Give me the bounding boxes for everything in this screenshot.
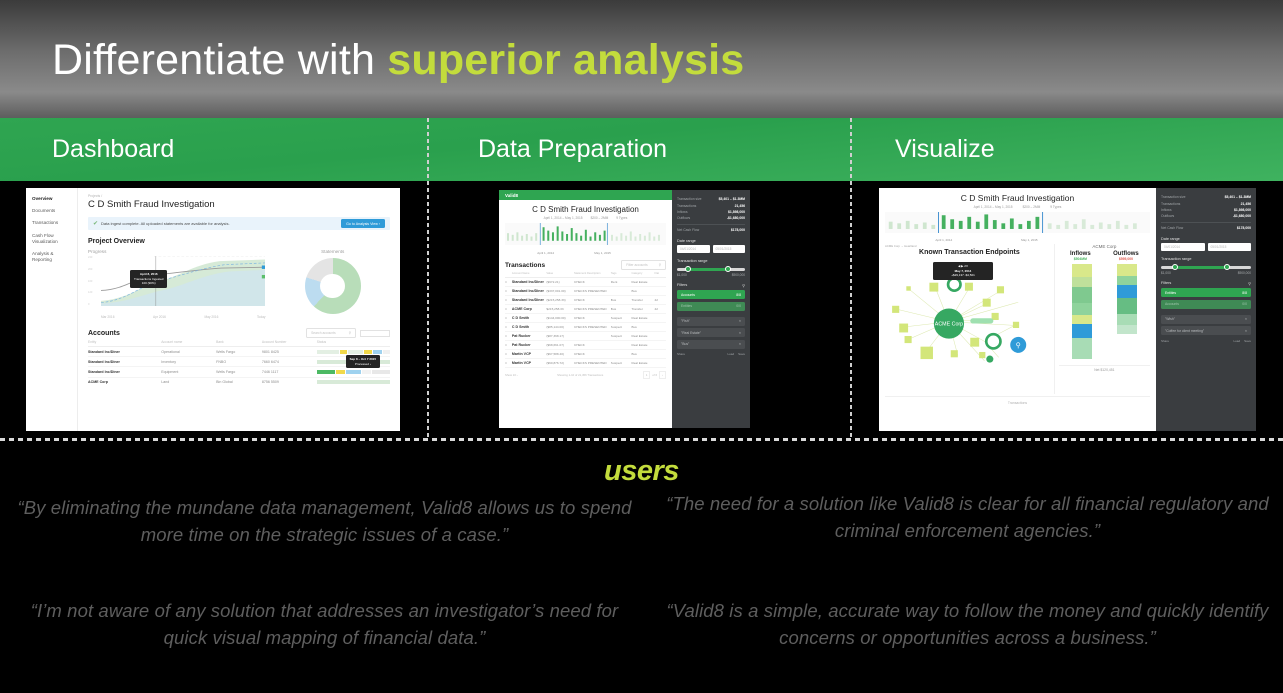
visualize-rail: Transaction size$5,401 – $1.3MMTransacti… bbox=[1156, 188, 1256, 431]
row-bank: Bin Global bbox=[216, 380, 262, 384]
footer-of: of 6 bbox=[652, 373, 657, 377]
check-circle-icon: ✔ bbox=[93, 220, 98, 227]
footer-next-button[interactable]: › bbox=[659, 371, 666, 379]
flows-entity: ACME Corp bbox=[1059, 244, 1150, 249]
close-icon[interactable]: × bbox=[739, 331, 741, 335]
row-account-name: Martin VCP bbox=[512, 361, 547, 365]
x-tick-2: May 2016 bbox=[204, 315, 218, 319]
row-number: 7446 1117 bbox=[262, 370, 317, 374]
close-icon[interactable]: × bbox=[1245, 329, 1247, 333]
filters-label: Filters bbox=[677, 283, 742, 287]
transaction-range-label: Transaction range bbox=[1161, 257, 1251, 261]
row-account: Operational bbox=[161, 350, 216, 354]
progress-area-chart bbox=[101, 256, 265, 306]
x-tick-3: Today bbox=[257, 315, 266, 319]
timeline-histogram[interactable] bbox=[885, 212, 1150, 233]
footer-count: Showing 1-10 of 21,456 Transactions bbox=[518, 373, 643, 377]
go-to-analysis-button[interactable]: Go to Analysis View › bbox=[341, 219, 385, 228]
date-range-inputs[interactable]: 04/01/2014 05/01/2015 bbox=[1161, 243, 1251, 251]
filter-accounts-count: 8/8 bbox=[736, 293, 741, 297]
stat-label: Transactions bbox=[677, 204, 696, 208]
filter-entities-label: Entities bbox=[1165, 291, 1176, 295]
search-icon: ⚲ bbox=[349, 331, 351, 335]
user-quote-2: “The need for a solution like Valid8 is … bbox=[660, 491, 1275, 545]
stat-value: -$1,680,000 bbox=[1233, 214, 1251, 218]
screenshot-dashboard[interactable]: Overview Documents Transactions Cash Flo… bbox=[26, 188, 400, 431]
row-number: 7660 6474 bbox=[262, 360, 317, 364]
row-description: CHECKS PRESENTED bbox=[574, 325, 611, 329]
x-tick-0: Mar 2016 bbox=[101, 315, 114, 319]
range-max: $900,000 bbox=[732, 273, 745, 277]
table-row[interactable]: □Pat Rucker($87,368.17)SuspectReal Estat… bbox=[505, 332, 666, 341]
row-status-bar bbox=[317, 380, 390, 384]
col-bank: Bank bbox=[216, 340, 262, 344]
date-range-inputs[interactable]: 04/01/2014 05/01/2015 bbox=[677, 245, 745, 253]
meta-daterange: April 1, 2014 – May 1, 2015 bbox=[544, 216, 583, 220]
filter-accounts-count: 0/0 bbox=[1242, 302, 1247, 306]
section-title-project-overview: Project Overview bbox=[88, 238, 390, 245]
timeline-start-label: April 1, 2014 bbox=[537, 251, 554, 255]
row-category: Real Estate bbox=[632, 343, 655, 347]
sidebar-item-transactions[interactable]: Transactions bbox=[32, 220, 71, 226]
row-category: Transfer bbox=[632, 307, 655, 311]
row-bank: Wells Fargo bbox=[216, 350, 262, 354]
statements-label: Statements bbox=[275, 249, 390, 254]
divider-vertical-2 bbox=[850, 118, 852, 440]
filter-entities-pill[interactable]: Entities 8/8 bbox=[1161, 288, 1251, 297]
rail-stats: Transaction size$5,401 – $1.3MMTransacti… bbox=[1161, 194, 1251, 220]
timeline-end-label: May 1, 2015 bbox=[594, 251, 611, 255]
row-bank: Wells Fargo bbox=[216, 370, 262, 374]
filters-label: Filters bbox=[1161, 281, 1248, 285]
row-value: ($972.21) bbox=[546, 280, 574, 284]
search-icon[interactable]: ⚲ bbox=[742, 283, 745, 288]
stat-value: $1,898,000 bbox=[1234, 208, 1251, 212]
band-label-data-preparation[interactable]: Data Preparation bbox=[478, 135, 667, 164]
stat-label: Transaction size bbox=[677, 197, 702, 201]
row-account: Inventory bbox=[161, 360, 216, 364]
row-account-name: ACME Corp bbox=[512, 307, 547, 311]
row-checkbox[interactable]: □ bbox=[505, 298, 512, 302]
page-title-accent: superior analysis bbox=[387, 36, 744, 84]
share-link[interactable]: Share bbox=[677, 352, 727, 356]
date-range-label: Date range bbox=[1161, 237, 1251, 241]
filter-accounts-label: Accounts bbox=[1165, 302, 1179, 306]
row-entity: Standard Inc/Diner bbox=[88, 370, 161, 374]
y-tick-4: 0 bbox=[88, 303, 100, 306]
row-account-name: C D Smith bbox=[512, 325, 547, 329]
tooltip-line2: 100 (90%) bbox=[134, 281, 163, 286]
filter-tag-label: "Fish" bbox=[681, 319, 690, 323]
save-link[interactable]: Save bbox=[1244, 339, 1251, 343]
row-description: CHECKS PRESENTED bbox=[574, 289, 611, 293]
filter-tag[interactable]: "Wish" × bbox=[1161, 315, 1251, 324]
row-tag: Suspect bbox=[611, 334, 632, 338]
row-value: ($60,876.72) bbox=[546, 361, 574, 365]
sidebar-item-cash-flow[interactable]: Cash Flow Visualization bbox=[32, 233, 71, 245]
alert-text: Data ingest complete. All uploaded state… bbox=[101, 221, 341, 226]
breadcrumb: Projects / bbox=[88, 194, 390, 198]
screenshot-data-preparation[interactable]: Valid8 C D Smith Fraud Investigation Apr… bbox=[499, 190, 750, 428]
row-entity: Standard Inc/Diner bbox=[88, 350, 161, 354]
project-title: C D Smith Fraud Investigation bbox=[885, 193, 1150, 203]
net-value: $178,000 bbox=[731, 228, 745, 232]
page-title-plain: Differentiate with bbox=[52, 36, 387, 84]
project-title: C D Smith Fraud Investigation bbox=[88, 199, 390, 210]
row-status-bar bbox=[317, 350, 390, 354]
row-tag: Suspect bbox=[611, 325, 632, 329]
screenshot-visualize[interactable]: C D Smith Fraud Investigation April 1, 2… bbox=[879, 188, 1256, 431]
row-tag: Rent bbox=[611, 280, 632, 284]
filter-tag[interactable]: "Fish" × bbox=[677, 317, 745, 326]
meta-amount: $200 – 2MM bbox=[591, 216, 609, 220]
status-tooltip-line2: Processed › bbox=[350, 362, 376, 367]
close-icon[interactable]: × bbox=[1245, 317, 1247, 321]
load-link[interactable]: Load bbox=[1233, 339, 1240, 343]
range-values: $1,000 $900,000 bbox=[677, 273, 745, 277]
sidebar-item-overview[interactable]: Overview bbox=[32, 196, 71, 202]
row-checkbox[interactable]: □ bbox=[505, 361, 512, 365]
date-range-label: Date range bbox=[677, 239, 745, 243]
filter-accounts-pill[interactable]: Accounts 8/8 bbox=[677, 290, 745, 299]
date-to-input[interactable]: 05/01/2015 bbox=[713, 245, 746, 253]
scrub-amounts: +$29,137 -$4,501 bbox=[937, 273, 989, 278]
page-title: Differentiate with superior analysis bbox=[52, 36, 744, 85]
transaction-range-label: Transaction range bbox=[677, 259, 745, 263]
rail-stat-row: Outflows-$1,680,000 bbox=[1161, 213, 1251, 219]
rail-net-cash-flow: Net Cash Flow $178,000 bbox=[677, 224, 745, 233]
status-tooltip: Sep 8 – Oct 7 2015 Processed › bbox=[346, 355, 380, 368]
search-icon: ⚲ bbox=[659, 263, 661, 267]
range-max: $900,000 bbox=[1238, 271, 1251, 275]
row-tag: Bus bbox=[611, 307, 632, 311]
row-value: ($337,001.00) bbox=[546, 289, 574, 293]
filter-placeholder: Filter accounts bbox=[626, 263, 647, 267]
band-label-dashboard[interactable]: Dashboard bbox=[52, 135, 174, 164]
stat-label: Transaction size bbox=[1161, 195, 1186, 199]
divider-vertical-1 bbox=[427, 118, 429, 440]
row-checkbox[interactable]: □ bbox=[505, 325, 512, 329]
row-tag: Suspect bbox=[611, 316, 632, 320]
row-entity: ACME Corp bbox=[88, 380, 161, 384]
range-min: $1,000 bbox=[677, 273, 687, 277]
band-label-visualize[interactable]: Visualize bbox=[895, 135, 995, 164]
y-tick-0: 240 bbox=[88, 256, 100, 259]
slider-knob-max[interactable] bbox=[1224, 264, 1230, 270]
row-value: ($68,661.07) bbox=[546, 343, 574, 347]
user-quote-3: “I’m not aware of any solution that addr… bbox=[12, 598, 637, 652]
table-row[interactable]: □C D Smith($144,000.00)CHECKSuspectReal … bbox=[505, 314, 666, 323]
accounts-table-header: Entity Account name Bank Account Number … bbox=[88, 338, 390, 347]
y-tick-2: 160 bbox=[88, 280, 100, 283]
timeline-histogram[interactable] bbox=[505, 223, 666, 245]
transaction-range-slider[interactable] bbox=[677, 268, 745, 271]
net-footer: Net $120,451 bbox=[1059, 365, 1150, 372]
range-values: $1,000 $900,000 bbox=[1161, 271, 1251, 275]
date-from-input[interactable]: 04/01/2014 bbox=[1161, 243, 1205, 251]
table-row[interactable]: □Standard Inc/Diner($215,258.33)CHECKBus… bbox=[505, 296, 666, 305]
graph-title: Known Transaction Endpoints bbox=[885, 249, 1054, 256]
users-heading: users bbox=[0, 455, 1283, 488]
stat-label: Inflows bbox=[677, 210, 688, 214]
filter-accounts-label: Accounts bbox=[681, 293, 695, 297]
close-icon[interactable]: × bbox=[739, 342, 741, 346]
col-status: Status bbox=[317, 340, 390, 344]
filter-tag-label: "Bus" bbox=[681, 342, 689, 346]
accounts-extra-input[interactable] bbox=[360, 330, 390, 337]
timeline-start-label: April 1, 2014 bbox=[935, 238, 952, 242]
row-value: $215,258.33 bbox=[546, 307, 574, 311]
project-meta: April 1, 2014 – May 1, 2015 $200 – 2MM 9… bbox=[505, 216, 666, 220]
stat-value: -$1,680,000 bbox=[727, 216, 745, 220]
meta-daterange: April 1, 2014 – May 1, 2015 bbox=[974, 205, 1013, 209]
transaction-range-slider[interactable] bbox=[1161, 266, 1251, 269]
col-flat: Flat bbox=[655, 272, 667, 275]
filter-tag-label: "Real Estate" bbox=[681, 331, 701, 335]
row-account-name: Standard Inc/Diner bbox=[512, 298, 547, 302]
row-checkbox[interactable]: □ bbox=[505, 289, 512, 293]
table-row[interactable]: □ACME Corp$215,258.33CHECKS PRESENTEDBus… bbox=[505, 305, 666, 314]
table-row[interactable]: Standard Inc/Diner Equipment Wells Fargo… bbox=[88, 367, 390, 377]
table-row[interactable]: □Pat Rucker($68,661.07)CHECKReal Estate bbox=[505, 341, 666, 350]
row-entity: Standard Inc/Diner bbox=[88, 360, 161, 364]
col-account-name: Account Name bbox=[512, 272, 547, 275]
row-account: Equipment bbox=[161, 370, 216, 374]
row-description: CHECK bbox=[574, 280, 611, 284]
stat-value: $1,898,000 bbox=[728, 210, 745, 214]
row-checkbox[interactable]: □ bbox=[505, 316, 512, 320]
row-value: ($67,588.40) bbox=[546, 352, 574, 356]
title-bar: Differentiate with superior analysis bbox=[0, 0, 1283, 118]
col-tags: Tags bbox=[611, 272, 632, 275]
stat-label: Inflows bbox=[1161, 208, 1172, 212]
row-account: Land bbox=[161, 380, 216, 384]
statements-donut-chart bbox=[305, 258, 361, 314]
table-row[interactable]: □Martin VCP($60,876.72)CHECKS PRESENTEDS… bbox=[505, 359, 666, 368]
row-bank: FNBO bbox=[216, 360, 262, 364]
col-account-name: Account name bbox=[161, 340, 216, 344]
row-category: Real Estate bbox=[632, 316, 655, 320]
stat-label: Outflows bbox=[677, 216, 690, 220]
row-flat: 42 bbox=[655, 298, 667, 302]
section-band: Dashboard Data Preparation Visualize bbox=[0, 118, 1283, 181]
dashboard-body: Projects / C D Smith Fraud Investigation… bbox=[78, 188, 400, 431]
filter-entities-count: 8/8 bbox=[1242, 291, 1247, 295]
row-value: ($144,000.00) bbox=[546, 316, 574, 320]
inflows-value: $504MM bbox=[1070, 257, 1091, 261]
rail-net-cash-flow: Net Cash Flow $178,000 bbox=[1161, 222, 1251, 231]
rail-stats: Transaction size$5,401 – $1.3MMTransacti… bbox=[677, 196, 745, 222]
project-title: C D Smith Fraud Investigation bbox=[505, 205, 666, 214]
table-row[interactable]: Standard Inc/Diner Operational Wells Far… bbox=[88, 347, 390, 357]
filter-entities-pill[interactable]: Entities 0/0 bbox=[677, 302, 745, 311]
row-description: CHECK bbox=[574, 298, 611, 302]
row-account-name: Standard Inc/Diner bbox=[512, 280, 547, 284]
timeline-end-label: May 1, 2015 bbox=[1021, 238, 1038, 242]
dashboard-sidebar: Overview Documents Transactions Cash Flo… bbox=[26, 188, 78, 431]
search-icon[interactable]: ⚲ bbox=[1248, 281, 1251, 286]
divider-horizontal bbox=[0, 438, 1283, 441]
scrub-tooltip: ◀ ▶ 2X May 7, 2014 +$29,137 -$4,501 bbox=[933, 262, 993, 280]
inflow-stack[interactable] bbox=[1072, 264, 1092, 359]
footer-show[interactable]: Show 10 › bbox=[505, 373, 518, 377]
stat-value: 21,456 bbox=[1241, 202, 1251, 206]
filter-tag[interactable]: "Bus" × bbox=[677, 340, 745, 349]
filter-tag[interactable]: "Real Estate" × bbox=[677, 328, 745, 337]
graph-breadcrumb: ACME Corp → Heartland bbox=[885, 244, 1054, 248]
row-account-name: Pat Rucker bbox=[512, 334, 547, 338]
outflow-stack[interactable] bbox=[1117, 264, 1137, 359]
row-account-name: Martin VCP bbox=[512, 352, 547, 356]
row-checkbox[interactable]: □ bbox=[505, 280, 512, 284]
net-label: Net Cash Flow bbox=[1161, 226, 1183, 230]
ingest-alert: ✔ Data ingest complete. All uploaded sta… bbox=[88, 217, 390, 230]
range-min: $1,000 bbox=[1161, 271, 1171, 275]
progress-chart: 240 200 160 120 0 bbox=[88, 256, 265, 314]
table-row[interactable]: Standard Inc/Diner Inventory FNBO 7660 6… bbox=[88, 357, 390, 367]
table-row[interactable]: ACME Corp Land Bin Global 8756 5509 bbox=[88, 378, 390, 387]
row-account-name: C D Smith bbox=[512, 316, 547, 320]
stat-value: $5,401 – $1.3MM bbox=[1225, 195, 1251, 199]
row-checkbox[interactable]: □ bbox=[505, 343, 512, 347]
transactions-table-header: Account Name Value Statement Description… bbox=[505, 270, 666, 278]
footer-page[interactable]: 1 bbox=[643, 371, 651, 379]
load-link[interactable]: Load bbox=[727, 352, 734, 356]
row-account-name: Standard Inc/Diner bbox=[512, 289, 547, 293]
svg-text:⚲: ⚲ bbox=[1016, 342, 1021, 350]
table-row[interactable]: □Standard Inc/Diner($972.21)CHECKRentRea… bbox=[505, 278, 666, 287]
user-quote-4: “Valid8 is a simple, accurate way to fol… bbox=[660, 598, 1275, 652]
save-link[interactable]: Save bbox=[738, 352, 745, 356]
stat-label: Outflows bbox=[1161, 214, 1174, 218]
row-tag: Suspect bbox=[611, 361, 632, 365]
stat-label: Transactions bbox=[1161, 202, 1180, 206]
accounts-search-placeholder: Search accounts bbox=[311, 331, 336, 335]
sidebar-item-analysis[interactable]: Analysis & Reporting bbox=[32, 251, 71, 263]
y-tick-1: 200 bbox=[88, 268, 100, 271]
filter-tag[interactable]: "Coffee for client meeting" × bbox=[1161, 326, 1251, 335]
filter-entities-count: 0/0 bbox=[736, 304, 741, 308]
y-tick-3: 120 bbox=[88, 291, 100, 294]
row-checkbox[interactable]: □ bbox=[505, 307, 512, 311]
row-category: Bus bbox=[632, 352, 655, 356]
sidebar-item-documents[interactable]: Documents bbox=[32, 208, 71, 214]
row-category: Real Estate bbox=[632, 361, 655, 365]
row-category: Bus bbox=[632, 289, 655, 293]
stat-value: 21,456 bbox=[735, 204, 745, 208]
row-account-name: Pat Rucker bbox=[512, 343, 547, 347]
slider-knob-min[interactable] bbox=[1172, 264, 1178, 270]
meta-amount: $200 – 2MM bbox=[1023, 205, 1041, 209]
filter-tag-label: "Wish" bbox=[1165, 317, 1175, 321]
meta-types: 9 Types bbox=[616, 216, 627, 220]
transactions-rows: □Standard Inc/Diner($972.21)CHECKRentRea… bbox=[505, 278, 666, 368]
net-label: Net Cash Flow bbox=[677, 228, 699, 232]
project-meta: April 1, 2014 – May 1, 2015 $200 – 2MM 9… bbox=[885, 205, 1150, 209]
accounts-title: Accounts bbox=[88, 330, 306, 337]
row-value: ($87,368.17) bbox=[546, 334, 574, 338]
row-description: CHECKS PRESENTED bbox=[574, 307, 611, 311]
svg-text:ACME Corp: ACME Corp bbox=[935, 321, 963, 327]
row-checkbox[interactable]: □ bbox=[505, 334, 512, 338]
date-to-input[interactable]: 05/01/2015 bbox=[1208, 243, 1252, 251]
row-category: Real Estate bbox=[632, 280, 655, 284]
data-prep-main: C D Smith Fraud Investigation April 1, 2… bbox=[499, 200, 672, 428]
table-row[interactable]: □Standard Inc/Diner($337,001.00)CHECKS P… bbox=[505, 287, 666, 296]
row-flat: 42 bbox=[655, 307, 667, 311]
data-prep-rail: Transaction size$5,401 – $1.3MMTransacti… bbox=[672, 190, 750, 428]
row-status-bar bbox=[317, 370, 390, 374]
col-account-number: Account Number bbox=[262, 340, 317, 344]
accounts-search-input[interactable]: Search accounts ⚲ bbox=[306, 328, 356, 338]
row-tag: Bus bbox=[611, 298, 632, 302]
status-tooltip-line1: Sep 8 – Oct 7 2015 bbox=[350, 357, 376, 362]
transactions-title: Transactions bbox=[505, 262, 621, 269]
row-description: CHECK bbox=[574, 343, 611, 347]
net-value: $178,000 bbox=[1237, 226, 1251, 230]
col-value: Value bbox=[546, 272, 574, 275]
filter-accounts-input[interactable]: Filter accounts ⚲ bbox=[621, 260, 666, 270]
row-category: Real Estate bbox=[632, 334, 655, 338]
meta-types: 9 Types bbox=[1050, 205, 1061, 209]
progress-x-axis: Mar 2016 Apr 2016 May 2016 Today bbox=[88, 315, 265, 319]
row-checkbox[interactable]: □ bbox=[505, 352, 512, 356]
progress-tooltip: April 8, 2016 Transactions Ingested 100 … bbox=[130, 270, 167, 288]
col-entity: Entity bbox=[88, 340, 161, 344]
row-value: ($85,144.00) bbox=[546, 325, 574, 329]
user-quote-1: “By eliminating the mundane data managem… bbox=[12, 495, 637, 549]
row-number: 9801 8425 bbox=[262, 350, 317, 354]
stat-value: $5,401 – $1.3MM bbox=[719, 197, 745, 201]
progress-label: Progress bbox=[88, 249, 265, 254]
row-category: Transfer bbox=[632, 298, 655, 302]
filter-entities-label: Entities bbox=[681, 304, 692, 308]
share-link[interactable]: Share bbox=[1161, 339, 1233, 343]
slider-knob-min[interactable] bbox=[685, 266, 691, 272]
transactions-footer: Show 10 › Showing 1-10 of 21,456 Transac… bbox=[505, 371, 666, 379]
slider-knob-max[interactable] bbox=[725, 266, 731, 272]
col-statement-description: Statement Description bbox=[574, 272, 611, 275]
table-row[interactable]: □Martin VCP($67,588.40)CHECKBus bbox=[505, 350, 666, 359]
rail-stat-row: Outflows-$1,680,000 bbox=[677, 215, 745, 221]
close-icon[interactable]: × bbox=[739, 319, 741, 323]
filter-tag-label: "Coffee for client meeting" bbox=[1165, 329, 1204, 333]
row-category: Bus bbox=[632, 325, 655, 329]
row-description: CHECK bbox=[574, 352, 611, 356]
filter-accounts-pill[interactable]: Accounts 0/0 bbox=[1161, 300, 1251, 309]
row-value: ($215,258.33) bbox=[546, 298, 574, 302]
slide-root: Differentiate with superior analysis Das… bbox=[0, 0, 1283, 693]
date-from-input[interactable]: 04/01/2014 bbox=[677, 245, 710, 253]
row-description: CHECK bbox=[574, 316, 611, 320]
x-tick-1: Apr 2016 bbox=[153, 315, 166, 319]
col-category: Category bbox=[632, 272, 655, 275]
outflows-value: $595,000 bbox=[1113, 257, 1139, 261]
row-number: 8756 5509 bbox=[262, 380, 317, 384]
bottom-transactions-label: Transactions bbox=[885, 396, 1150, 405]
visualize-main: C D Smith Fraud Investigation April 1, 2… bbox=[879, 188, 1156, 431]
row-description: CHECKS PRESENTED bbox=[574, 361, 611, 365]
table-row[interactable]: □C D Smith($85,144.00)CHECKS PRESENTEDSu… bbox=[505, 323, 666, 332]
